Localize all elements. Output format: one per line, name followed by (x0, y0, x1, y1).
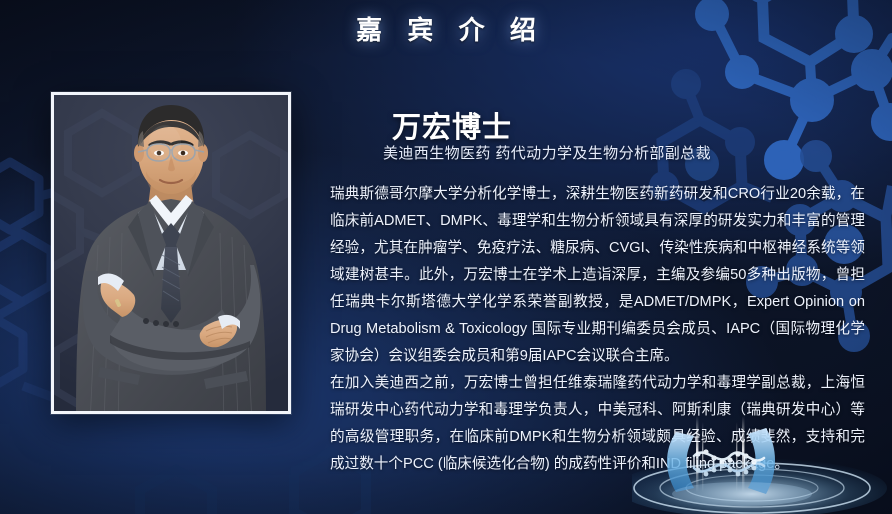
bio-paragraph: 瑞典斯德哥尔摩大学分析化学博士，深耕生物医药新药研发和CRO行业20余载，在临床… (330, 181, 865, 370)
speaker-portrait-illustration (54, 95, 288, 411)
speaker-photo (54, 95, 288, 411)
slide-canvas: 嘉 宾 介 绍 (0, 0, 892, 514)
speaker-name: 万宏博士 (392, 104, 512, 146)
page-title: 嘉 宾 介 绍 (0, 10, 892, 47)
dna-helix-graphic (632, 410, 892, 514)
speaker-role: 美迪西生物医药 药代动力学及生物分析部副总裁 (383, 142, 711, 163)
speaker-photo-frame (51, 92, 291, 414)
